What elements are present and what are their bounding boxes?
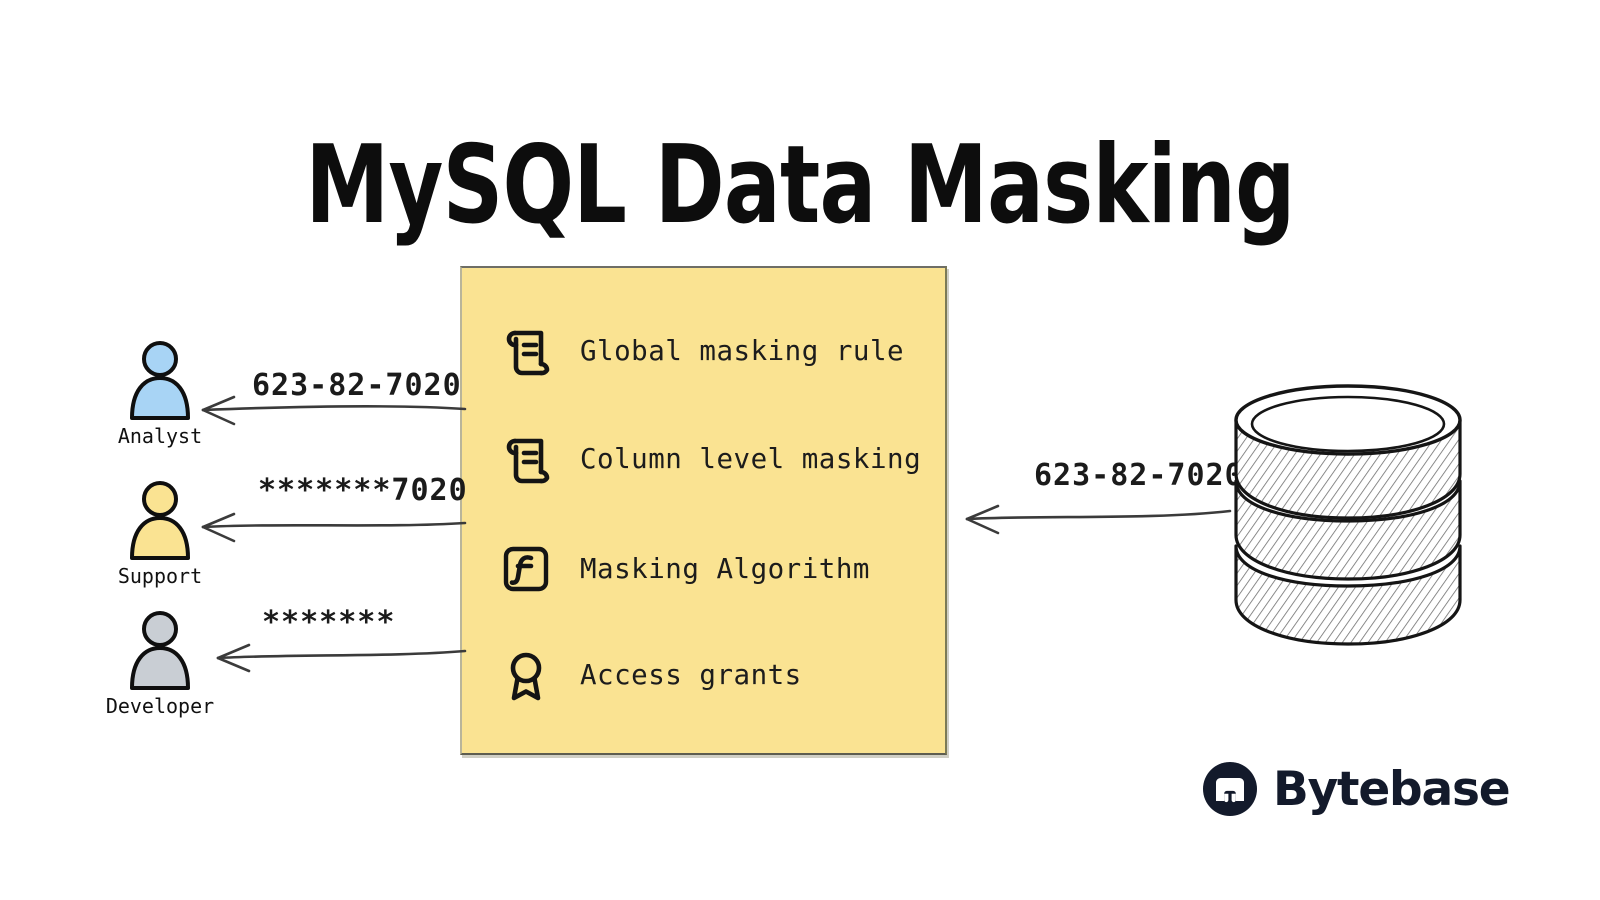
person-icon bbox=[124, 608, 196, 692]
scroll-icon bbox=[498, 323, 554, 379]
bytebase-mark-icon bbox=[1203, 762, 1257, 816]
person-icon bbox=[124, 338, 196, 422]
award-icon bbox=[498, 647, 554, 703]
flow-arrow-support bbox=[190, 503, 470, 548]
flow-arrow-analyst bbox=[190, 385, 470, 430]
panel-item-label: Access grants bbox=[580, 659, 802, 691]
panel-item-label: Column level masking bbox=[580, 443, 921, 475]
panel-item-global-masking-rule[interactable]: Global masking rule bbox=[498, 318, 904, 384]
panel-item-masking-algorithm[interactable]: Masking Algorithm bbox=[498, 536, 870, 602]
panel-item-label: Masking Algorithm bbox=[580, 553, 870, 585]
flow-label-source: 623-82-7020 bbox=[1034, 458, 1244, 493]
person-icon bbox=[124, 478, 196, 562]
panel-item-column-level-masking[interactable]: Column level masking bbox=[498, 426, 921, 492]
bytebase-wordmark: Bytebase bbox=[1273, 766, 1509, 813]
bytebase-logo[interactable]: Bytebase bbox=[1203, 762, 1509, 816]
actor-label: Developer bbox=[95, 694, 225, 718]
masking-capabilities-panel: Global masking rule Column level masking bbox=[460, 266, 947, 755]
flow-arrow-developer bbox=[205, 633, 470, 678]
scroll-icon bbox=[498, 431, 554, 487]
flow-arrow-source bbox=[952, 495, 1234, 540]
panel-item-access-grants[interactable]: Access grants bbox=[498, 642, 802, 708]
diagram-canvas: MySQL Data Masking Global masking rule bbox=[0, 0, 1600, 900]
actor-label: Support bbox=[95, 564, 225, 588]
function-icon bbox=[498, 541, 554, 597]
database-cylinder-icon bbox=[1228, 378, 1468, 653]
page-title: MySQL Data Masking bbox=[176, 128, 1424, 245]
panel-item-label: Global masking rule bbox=[580, 335, 904, 367]
